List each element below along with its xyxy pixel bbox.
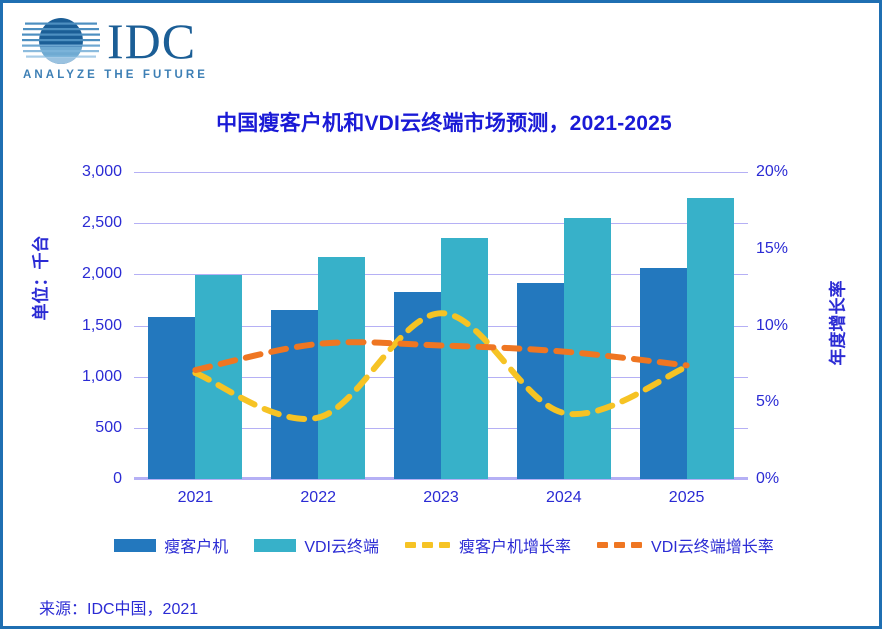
y-axis-right-title: 年度增长率 bbox=[824, 281, 849, 366]
x-axis-tick: 2021 bbox=[178, 489, 214, 507]
growth-line bbox=[195, 342, 686, 370]
y-axis-left-tick: 0 bbox=[52, 470, 122, 488]
x-axis-tick: 2025 bbox=[669, 489, 705, 507]
legend-dash-swatch bbox=[597, 542, 643, 548]
source-note: 来源：IDC中国，2021 bbox=[39, 595, 198, 619]
y-axis-left-tick: 1,000 bbox=[52, 368, 122, 386]
y-axis-right-tick: 10% bbox=[756, 317, 826, 335]
legend-label: VDI云终端增长率 bbox=[651, 533, 774, 557]
y-axis-right-tick: 5% bbox=[756, 393, 826, 411]
x-axis-tick: 2022 bbox=[300, 489, 336, 507]
idc-globe-icon bbox=[21, 15, 101, 67]
y-axis-right-tick: 0% bbox=[756, 470, 826, 488]
x-axis-tick: 2024 bbox=[546, 489, 582, 507]
growth-lines-layer bbox=[134, 172, 748, 479]
legend-label: 瘦客户机增长率 bbox=[459, 533, 571, 557]
y-axis-right-tick: 20% bbox=[756, 163, 826, 181]
legend-item[interactable]: VDI云终端增长率 bbox=[597, 533, 774, 557]
y-axis-left-tick: 2,000 bbox=[52, 265, 122, 283]
gridline bbox=[134, 479, 748, 480]
legend-color-swatch bbox=[254, 539, 296, 552]
legend-label: VDI云终端 bbox=[304, 533, 379, 557]
y-axis-left-title: 单位：千台 bbox=[27, 236, 52, 321]
chart-legend: 瘦客户机VDI云终端瘦客户机增长率VDI云终端增长率 bbox=[3, 533, 882, 557]
idc-wordmark: IDC bbox=[107, 13, 196, 69]
chart-page: IDC ANALYZE THE FUTURE 中国瘦客户机和VDI云终端市场预测… bbox=[0, 0, 882, 629]
x-axis-tick: 2023 bbox=[423, 489, 459, 507]
y-axis-left-tick: 2,500 bbox=[52, 214, 122, 232]
legend-label: 瘦客户机 bbox=[164, 533, 228, 557]
y-axis-left-tick: 3,000 bbox=[52, 163, 122, 181]
growth-line bbox=[195, 313, 686, 419]
legend-dash-swatch bbox=[405, 542, 451, 548]
legend-item[interactable]: 瘦客户机增长率 bbox=[405, 533, 571, 557]
legend-item[interactable]: 瘦客户机 bbox=[114, 533, 228, 557]
legend-color-swatch bbox=[114, 539, 156, 552]
legend-item[interactable]: VDI云终端 bbox=[254, 533, 379, 557]
header: IDC ANALYZE THE FUTURE bbox=[3, 3, 879, 91]
y-axis-right-tick: 15% bbox=[756, 240, 826, 258]
plot-area bbox=[134, 172, 748, 479]
y-axis-left-tick: 500 bbox=[52, 419, 122, 437]
idc-tagline: ANALYZE THE FUTURE bbox=[23, 69, 208, 81]
y-axis-left-tick: 1,500 bbox=[52, 317, 122, 335]
idc-logo: IDC ANALYZE THE FUTURE bbox=[21, 13, 221, 85]
chart-title: 中国瘦客户机和VDI云终端市场预测，2021-2025 bbox=[3, 107, 882, 137]
